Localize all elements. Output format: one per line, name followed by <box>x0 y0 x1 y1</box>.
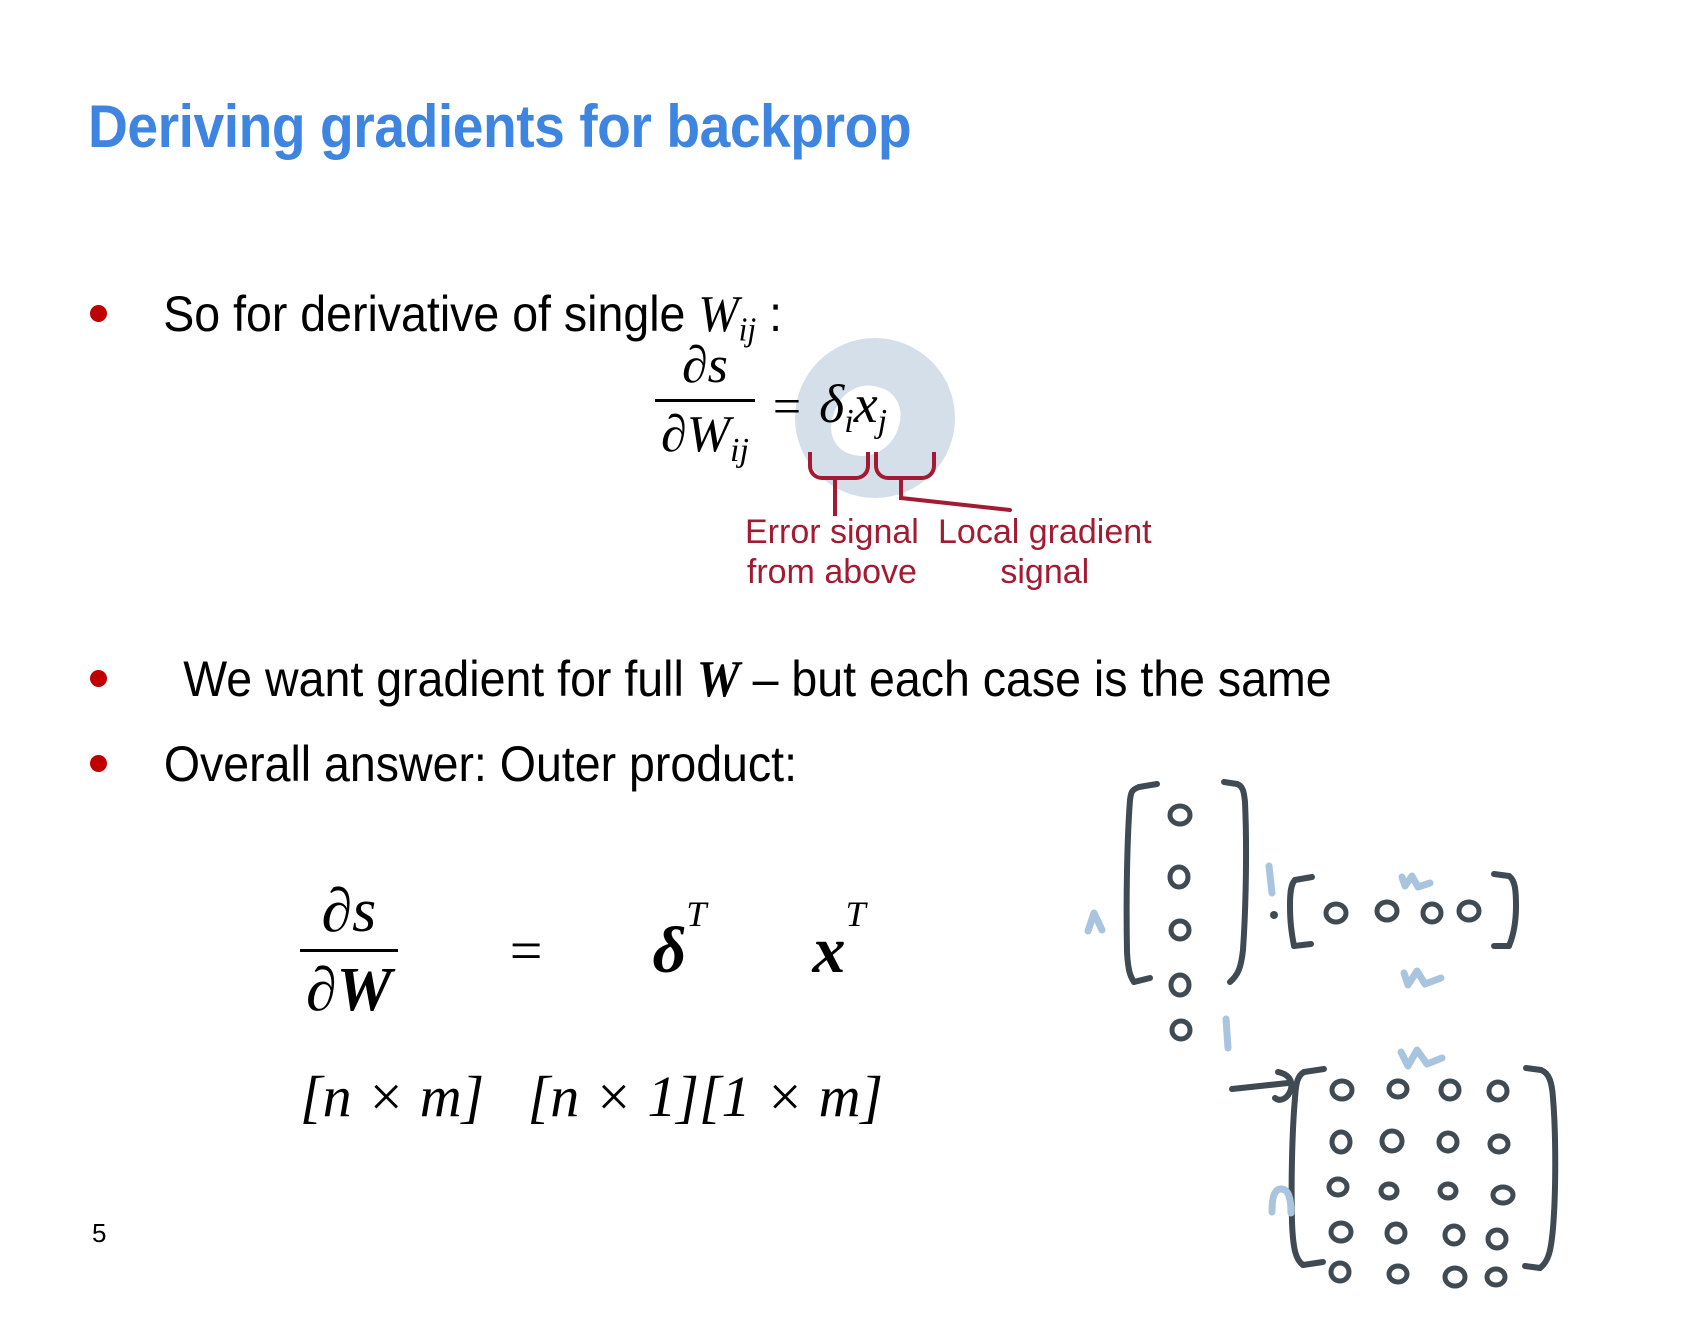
dims-left: [n × m] <box>300 1064 484 1129</box>
equation-rhs: δixj <box>819 373 887 441</box>
bullet-item-3: Overall answer: Outer product: <box>90 735 821 793</box>
bullet-item-2: We want gradient for full W – but each c… <box>90 650 1375 709</box>
equation-dimensions: [n × m] [n × 1][1 × m] <box>300 1063 883 1130</box>
annotation-local-gradient-line2: signal <box>938 552 1152 592</box>
brace-error-signal <box>808 452 870 480</box>
annotation-error-signal-line1: Error signal <box>745 512 919 552</box>
equation-outer-product: ∂s ∂W = δT xT [n × m] [n × 1][1 × m] <box>300 880 883 1130</box>
equals-sign: = <box>773 377 801 435</box>
fraction-denominator: ∂W <box>300 959 398 1021</box>
bullet-dot-icon <box>90 755 107 772</box>
bullet-dot-icon <box>90 305 107 322</box>
equals-sign: = <box>510 917 543 984</box>
brace-local-gradient <box>874 452 936 480</box>
fraction-bar <box>655 399 755 402</box>
page-number: 5 <box>92 1218 106 1249</box>
bullet-item-2-text: We want gradient for full W – but each c… <box>183 650 1331 709</box>
slide-canvas: Deriving gradients for backprop So for d… <box>0 0 1700 1317</box>
bullet-dot-icon <box>90 670 107 687</box>
equation-partial-s-partial-wij: ∂s ∂Wij = δixj <box>655 340 887 468</box>
fraction-numerator: ∂s <box>676 340 734 392</box>
term-x-transpose: xT <box>812 913 865 989</box>
dims-right: [n × 1][1 × m] <box>528 1064 883 1129</box>
annotation-error-signal: Error signal from above <box>745 512 919 592</box>
equation-outer-product-row: ∂s ∂W = δT xT <box>300 880 883 1021</box>
brace-local-gradient-stem <box>899 476 903 500</box>
bullet-1-math-var: W <box>698 286 738 343</box>
bullet-item-3-text: Overall answer: Outer product: <box>164 735 797 793</box>
page-title: Deriving gradients for backprop <box>88 92 911 161</box>
fraction-bar <box>300 949 398 952</box>
bullet-2-math-var: W <box>697 651 740 708</box>
fraction-ds-dw: ∂s ∂W <box>300 880 398 1021</box>
fraction-ds-dwij: ∂s ∂Wij <box>655 340 755 468</box>
term-delta-transpose: δT <box>652 913 706 989</box>
annotation-local-gradient: Local gradient signal <box>938 512 1152 592</box>
brace-error-signal-stem <box>833 476 837 516</box>
annotation-error-signal-line2: from above <box>745 552 919 592</box>
fraction-denominator: ∂Wij <box>655 409 755 468</box>
annotation-local-gradient-line1: Local gradient <box>938 512 1152 552</box>
fraction-numerator: ∂s <box>316 880 383 942</box>
